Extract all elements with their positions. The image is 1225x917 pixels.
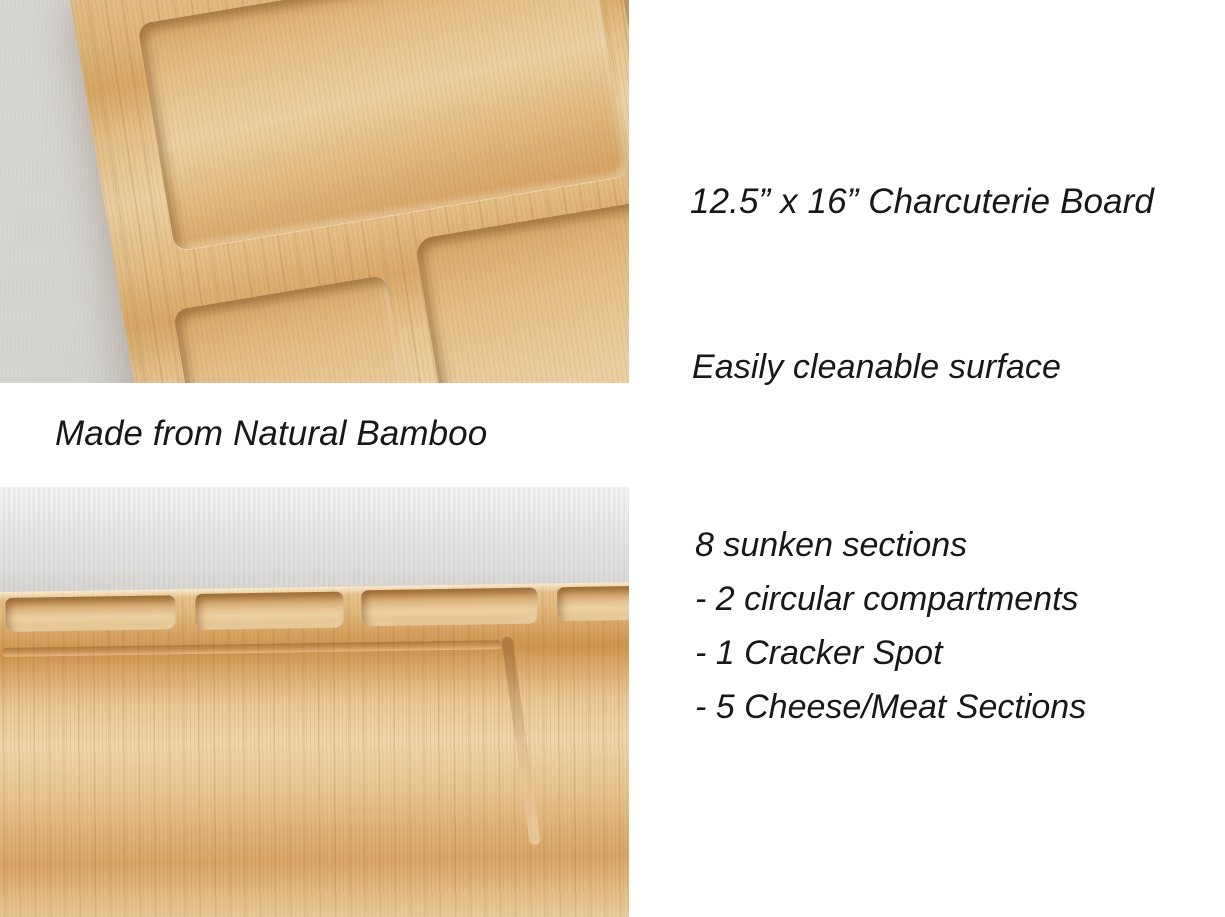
caption-material: Made from Natural Bamboo <box>55 414 487 453</box>
feature-list: 8 sunken sections - 2 circular compartme… <box>695 518 1086 734</box>
product-photo-angled-corner <box>0 0 629 383</box>
well-back-center <box>195 591 344 629</box>
feature-item-cheese-meat: - 5 Cheese/Meat Sections <box>695 680 1086 734</box>
feature-heading: 8 sunken sections <box>695 518 1086 572</box>
feature-item-cracker: - 1 Cracker Spot <box>695 626 1086 680</box>
bamboo-board-low <box>0 581 629 917</box>
subtitle-cleanable: Easily cleanable surface <box>692 348 1061 386</box>
well-back-far-right <box>557 585 629 621</box>
feature-item-circular: - 2 circular compartments <box>695 572 1086 626</box>
product-photo-low-angle <box>0 487 629 917</box>
center-recess-groove-right <box>501 636 541 846</box>
bamboo-board <box>65 0 629 383</box>
wall-texture <box>0 487 629 592</box>
compartment-long-top <box>137 0 629 251</box>
product-feature-graphic: 12.5” x 16” Charcuterie Board Easily cle… <box>0 0 1225 917</box>
compartment-lower-left <box>173 275 436 383</box>
center-recess-groove-top <box>2 640 502 657</box>
well-back-left <box>5 595 176 632</box>
well-back-right <box>361 587 538 626</box>
page-title: 12.5” x 16” Charcuterie Board <box>690 182 1154 221</box>
